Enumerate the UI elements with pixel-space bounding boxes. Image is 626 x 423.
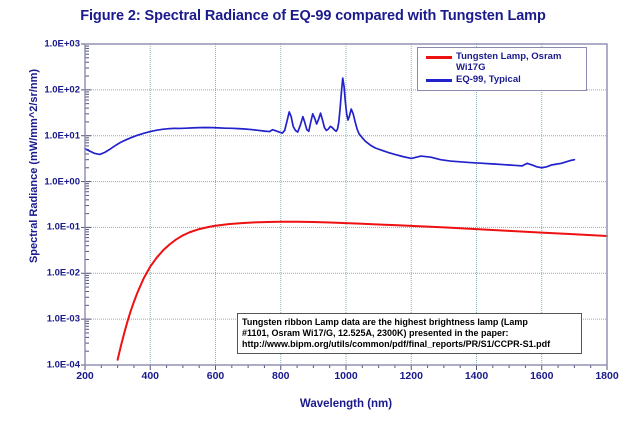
legend-label-tungsten: Tungsten Lamp, Osram Wi17G: [456, 51, 561, 73]
chart-legend: Tungsten Lamp, Osram Wi17G EQ-99, Typica…: [417, 47, 587, 91]
chart-container: Figure 2: Spectral Radiance of EQ-99 com…: [0, 0, 626, 423]
legend-swatch-eq99: [426, 79, 452, 82]
legend-item-eq99: EQ-99, Typical: [422, 74, 582, 85]
x-axis-label: Wavelength (nm): [85, 398, 607, 410]
annotation-line-3: http://www.bipm.org/utils/common/pdf/fin…: [242, 339, 577, 350]
legend-item-tungsten: Tungsten Lamp, Osram Wi17G: [422, 51, 582, 73]
legend-label-tungsten-line1: Tungsten Lamp, Osram: [456, 51, 561, 62]
legend-label-tungsten-line2: Wi17G: [456, 62, 561, 73]
annotation-box: Tungsten ribbon Lamp data are the highes…: [237, 313, 582, 354]
annotation-line-2: #1101, Osram Wi17/G, 12.525A, 2300K) pre…: [242, 328, 577, 339]
legend-swatch-tungsten: [426, 56, 452, 59]
legend-label-eq99: EQ-99, Typical: [456, 74, 521, 85]
annotation-line-1: Tungsten ribbon Lamp data are the highes…: [242, 317, 577, 328]
